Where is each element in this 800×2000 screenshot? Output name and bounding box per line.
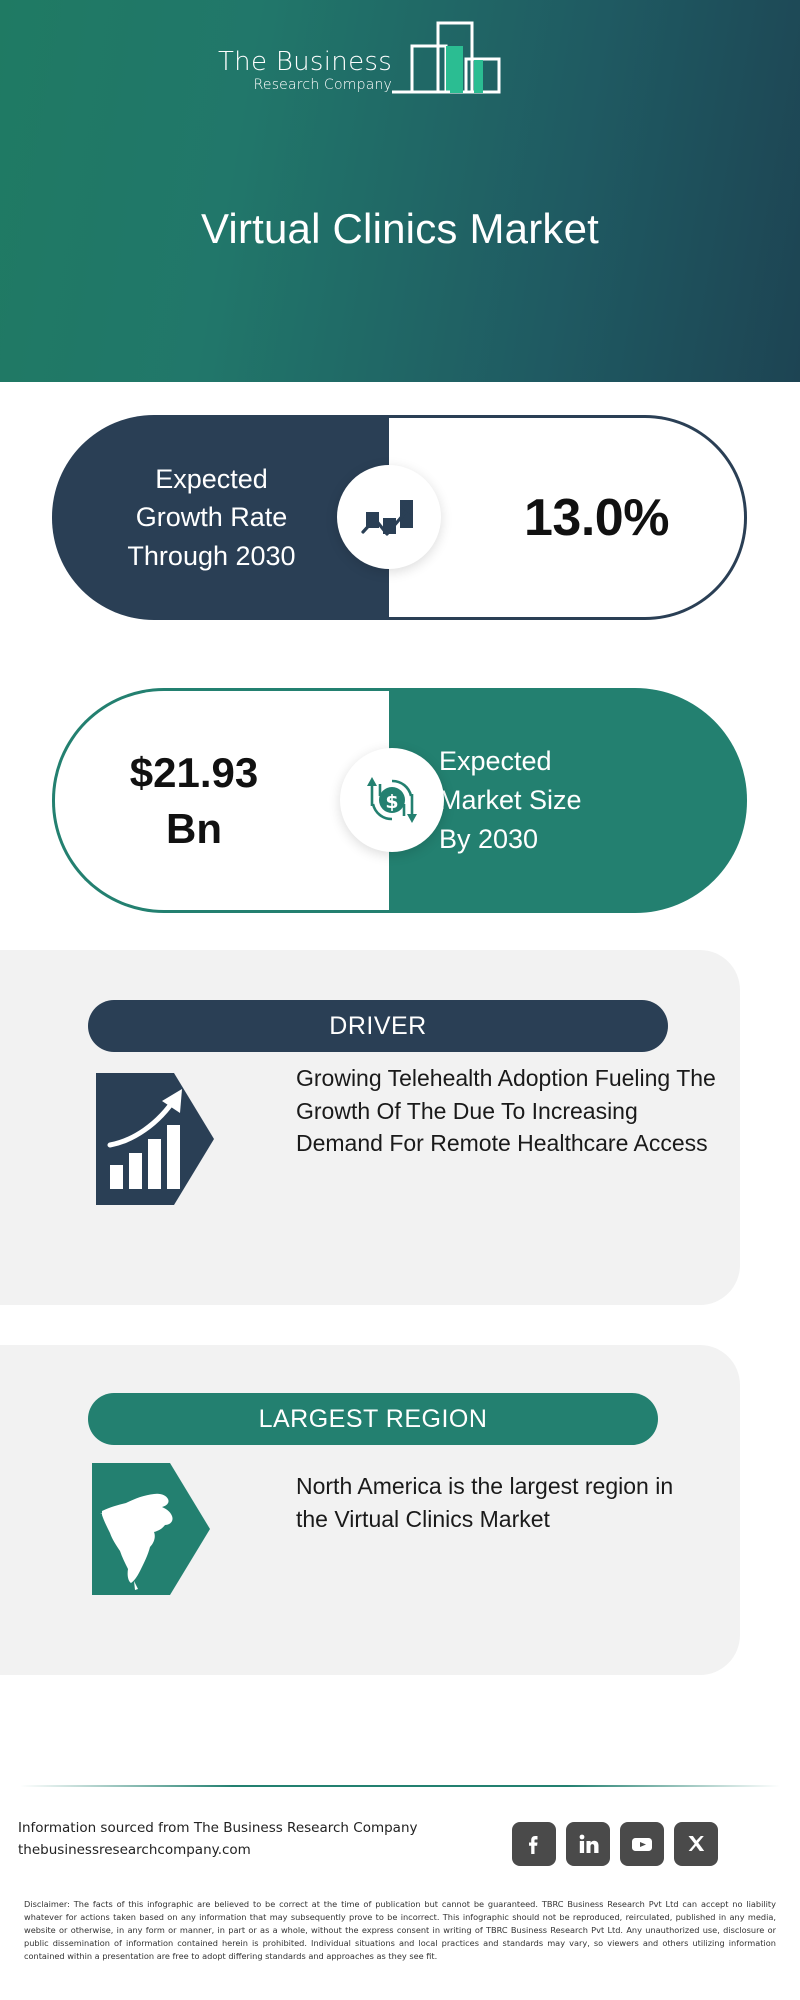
footer-divider [20, 1785, 780, 1787]
north-america-map-icon [92, 1463, 210, 1595]
footer-source-line-1: Information sourced from The Business Re… [18, 1818, 418, 1840]
driver-description: Growing Telehealth Adoption Fueling The … [296, 1062, 716, 1160]
linkedin-icon[interactable] [566, 1822, 610, 1866]
svg-text:$: $ [385, 791, 398, 813]
page-title: Virtual Clinics Market [0, 205, 800, 253]
driver-pill: DRIVER [88, 1000, 668, 1052]
largest-region-pill-label: LARGEST REGION [259, 1405, 488, 1434]
facebook-icon[interactable] [512, 1822, 556, 1866]
bar-chart-growth-arrow-icon [96, 1073, 214, 1205]
market-label-line-1: Expected [439, 742, 747, 781]
growth-label-line-2: Growth Rate [127, 498, 295, 536]
bar-chart-logo-icon [390, 19, 502, 100]
growth-rate-value: 13.0% [464, 488, 669, 548]
market-size-card: $21.93 Bn Expected Market Size By 2030 $ [52, 688, 747, 913]
largest-region-description: North America is the largest region in t… [296, 1470, 696, 1535]
footer-website[interactable]: thebusinessresearchcompany.com [18, 1840, 418, 1862]
header-banner: The Business Research Company Virtual Cl… [0, 0, 800, 382]
market-size-value-panel: $21.93 Bn [52, 688, 389, 913]
growth-rate-label: Expected Growth Rate Through 2030 [127, 460, 313, 575]
growth-label-line-1: Expected [127, 460, 295, 498]
social-links [512, 1822, 718, 1866]
driver-pill-label: DRIVER [329, 1012, 426, 1041]
x-twitter-icon[interactable] [674, 1822, 718, 1866]
company-logo: The Business Research Company [218, 22, 502, 100]
logo-line-1: The Business [218, 49, 392, 76]
logo-text: The Business Research Company [218, 49, 392, 100]
largest-region-pill: LARGEST REGION [88, 1393, 658, 1445]
growth-chart-arrow-icon [337, 465, 441, 569]
market-size-value: $21.93 Bn [130, 745, 314, 856]
logo-line-2: Research Company [254, 76, 392, 94]
market-label-line-3: By 2030 [439, 820, 747, 859]
market-size-value-line-1: $21.93 [130, 745, 258, 800]
market-size-value-line-2: Bn [130, 801, 258, 856]
infographic-page: The Business Research Company Virtual Cl… [0, 0, 800, 2000]
disclaimer-text: Disclaimer: The facts of this infographi… [24, 1898, 776, 1963]
growth-label-line-3: Through 2030 [127, 537, 295, 575]
market-label-line-2: Market Size [439, 781, 747, 820]
growth-rate-value-panel: 13.0% [389, 415, 747, 620]
dollar-circulation-icon: $ [340, 748, 444, 852]
youtube-icon[interactable] [620, 1822, 664, 1866]
footer-source: Information sourced from The Business Re… [18, 1818, 418, 1861]
growth-rate-card: Expected Growth Rate Through 2030 13.0% [52, 415, 747, 620]
